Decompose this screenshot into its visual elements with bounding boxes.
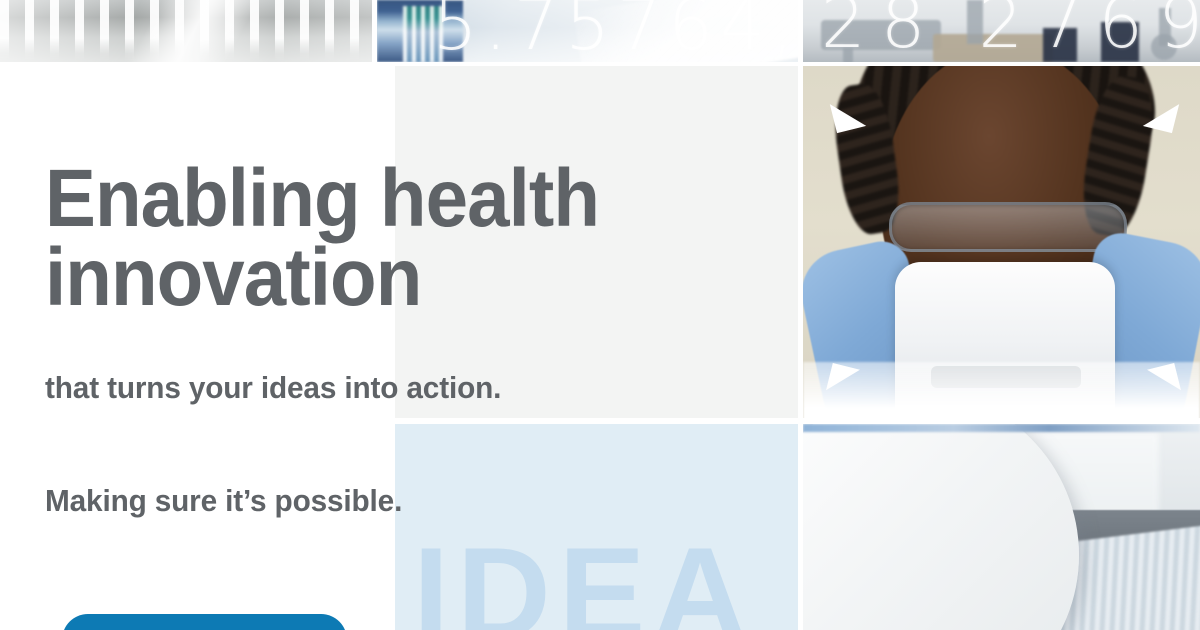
safety-goggles <box>889 202 1127 252</box>
white-lab-coat <box>803 362 1200 418</box>
hero-copy: Enabling health innovation that turns yo… <box>45 160 785 317</box>
panel-blue-middle: IDEA <box>395 424 798 630</box>
subheadline-primary: that turns your ideas into action. <box>45 370 501 406</box>
hero-banner: 5.75764, 28 2769 32 IDEA <box>0 0 1200 630</box>
top-tile-hospital-ward: 28 2769 32 <box>803 0 1200 62</box>
subheadline-secondary: Making sure it’s possible. <box>45 483 402 519</box>
photo-scientist <box>803 66 1200 418</box>
top-tile-lab-vials: 5.75764, <box>377 0 798 62</box>
cta-button[interactable]: Find out how <box>62 614 347 630</box>
data-number-overlay-mid: 5.75764, <box>433 0 798 62</box>
photo-scanner <box>803 424 1200 630</box>
data-number-overlay-right: 28 2769 32 <box>821 0 1200 62</box>
page-title: Enabling health innovation <box>45 160 733 317</box>
top-image-strip: 5.75764, 28 2769 32 <box>0 0 1200 62</box>
scanner-top-edge <box>803 424 1200 432</box>
idea-watermark-text: IDEA <box>413 528 755 630</box>
light-beam-overlay <box>0 0 372 62</box>
top-tile-barcode-corridor <box>0 0 372 62</box>
panel-white-left <box>0 66 391 626</box>
scanner-bore-ring <box>803 424 1079 630</box>
